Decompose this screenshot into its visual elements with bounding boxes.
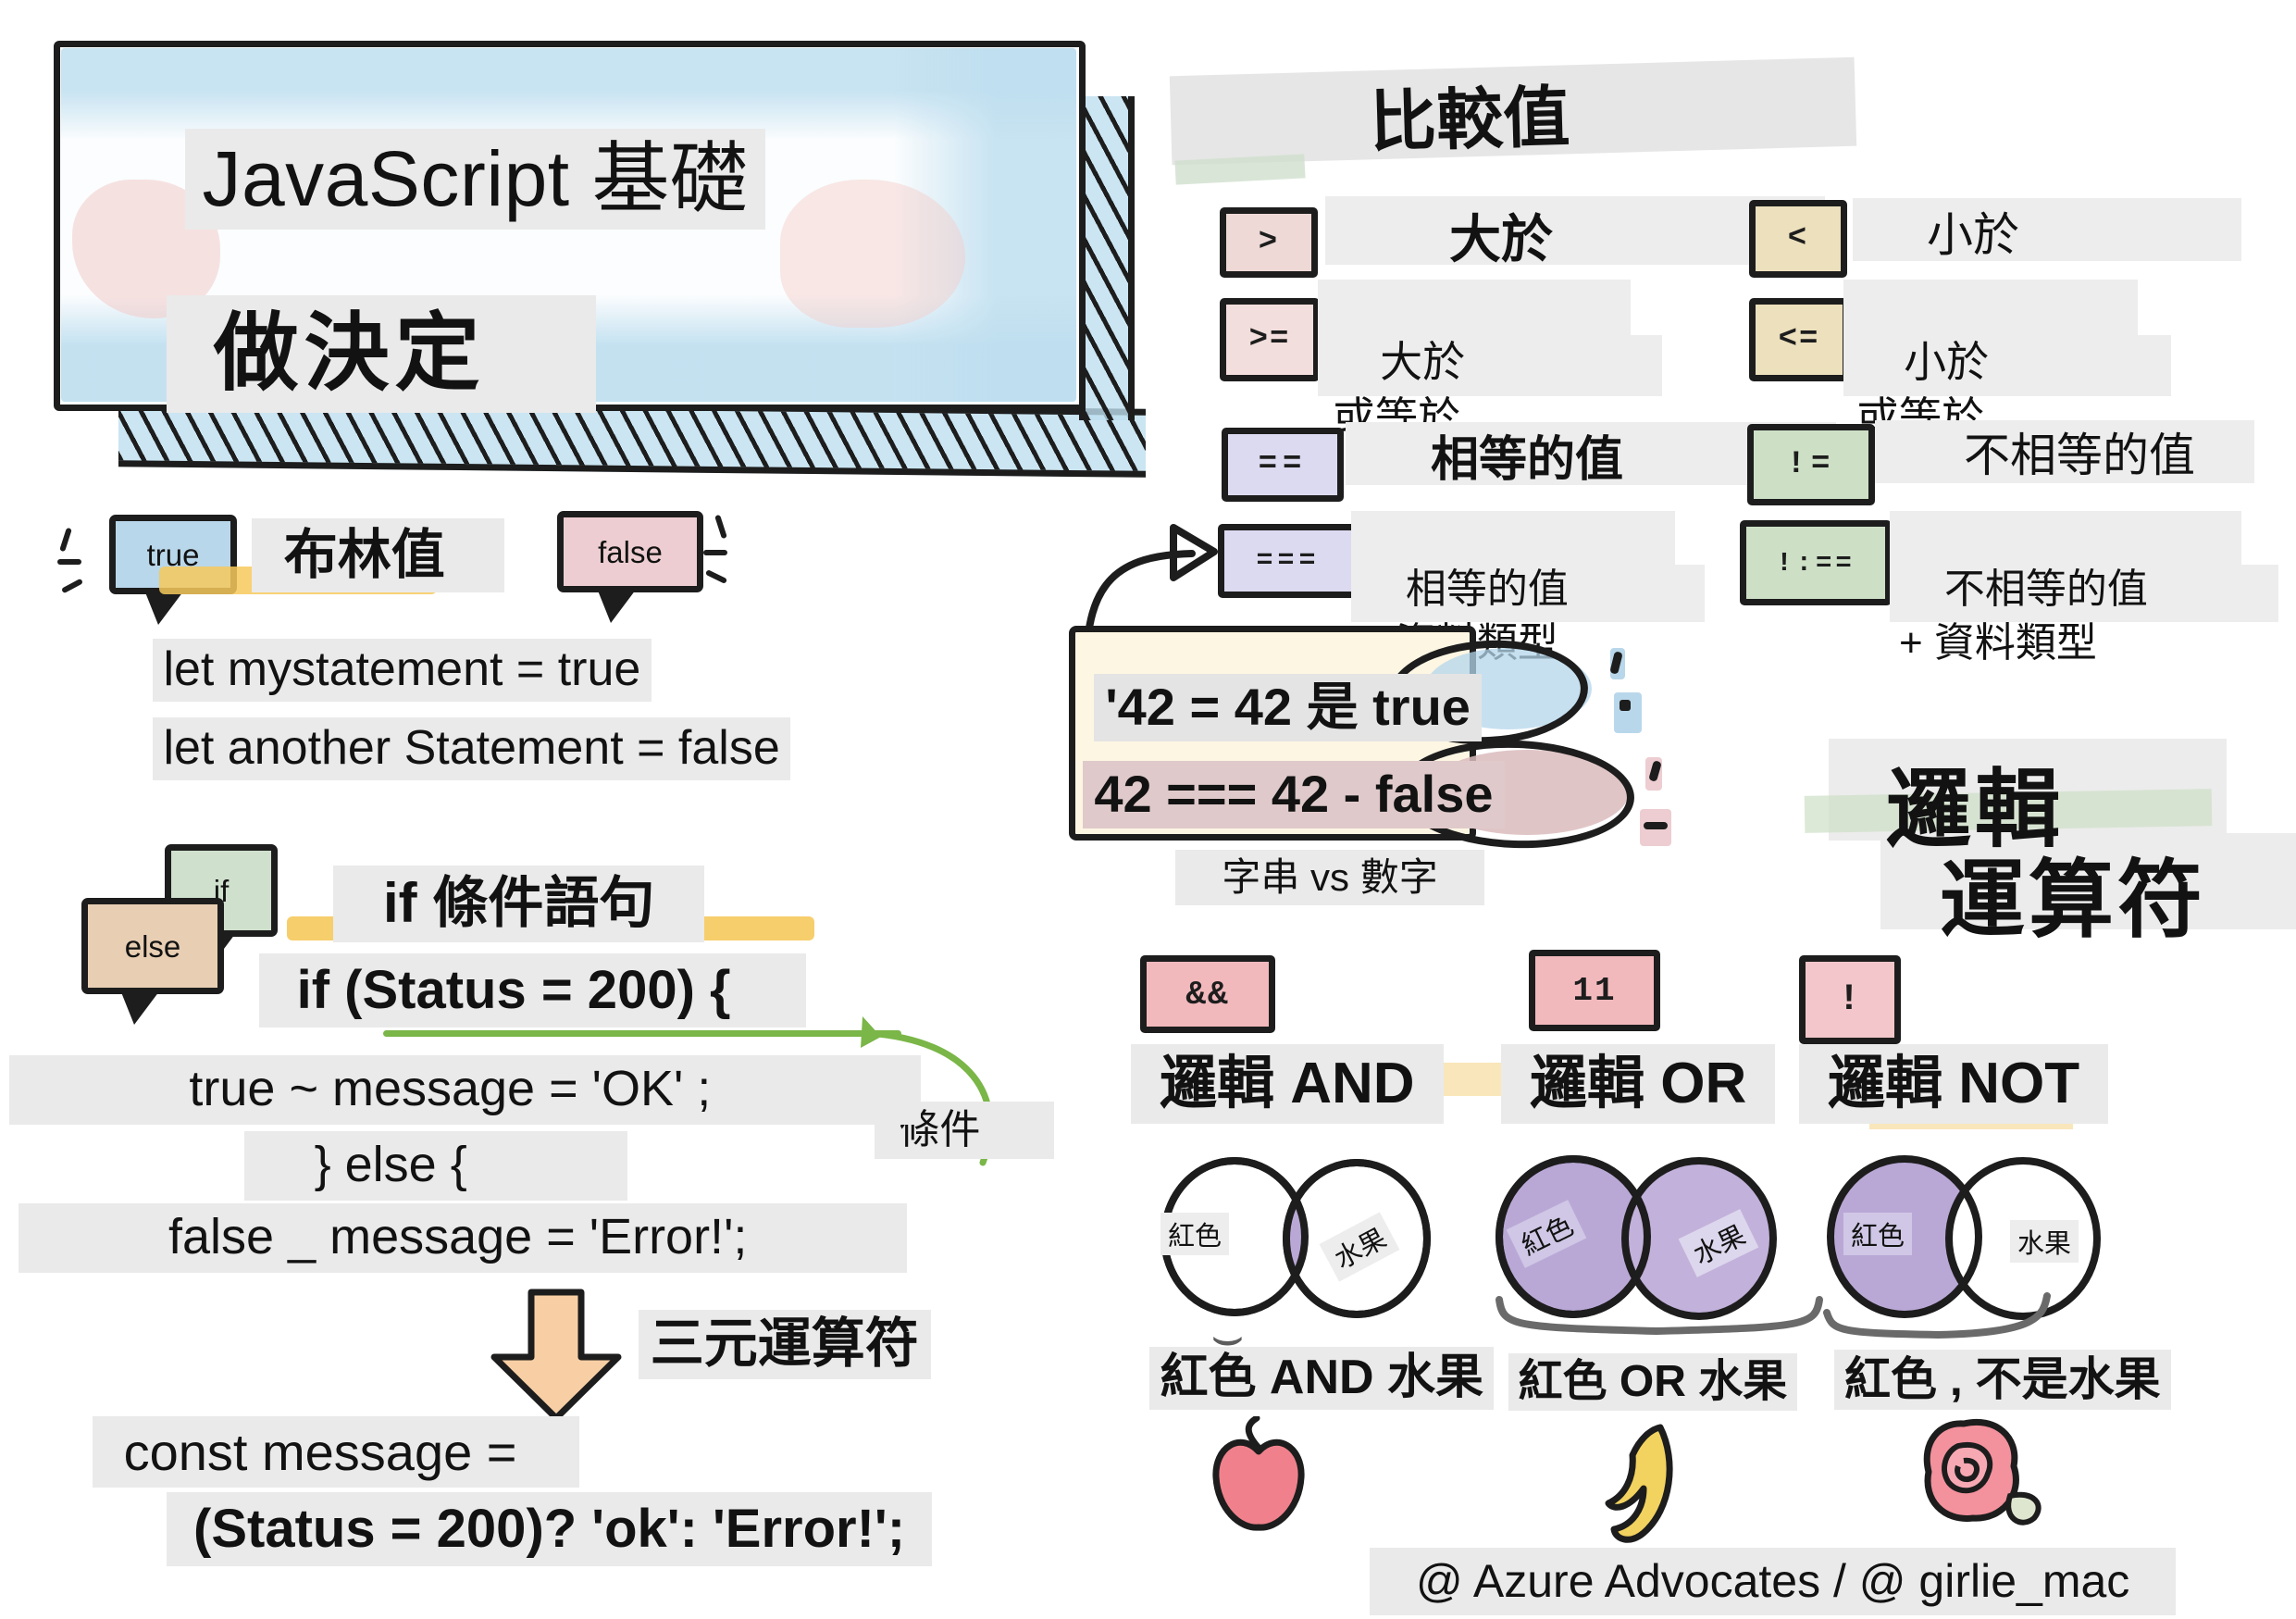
title-card-side-hatch — [1079, 96, 1135, 420]
and-caption-text: 紅色 AND 水果 — [1149, 1347, 1494, 1410]
venn-and: 紅色 水果 — [1155, 1155, 1488, 1322]
fortytwo-true-text: '42 = 42 是 true — [1094, 674, 1482, 741]
fortytwo-caption-text: 字串 vs 數字 — [1175, 850, 1484, 905]
fortytwo-true-line: '42 = 42 是 true — [1094, 674, 1482, 741]
bubble-else-label: else — [125, 931, 181, 962]
not-title: 邏輯 NOT — [1799, 1044, 2108, 1124]
page-subtitle-text: 做決定 — [167, 295, 596, 413]
compare-label-neq: 不相等的值 — [1964, 418, 2195, 485]
compare-label-gt-text: 大於 — [1449, 210, 1553, 268]
logic-heading-line-2-text: 運算符 — [1940, 853, 2206, 948]
and-caption: 紅色 AND 水果 — [1149, 1347, 1494, 1410]
fortytwo-caption: 字串 vs 數字 — [1175, 850, 1484, 905]
if-code-text-2: true ~ message = 'OK' ; — [9, 1055, 921, 1125]
if-code-line-3: } else { — [244, 1131, 627, 1201]
and-title-text: 邏輯 AND — [1131, 1044, 1444, 1124]
operator-chip-and-label: && — [1185, 976, 1229, 1014]
fortytwo-false-line: 42 === 42 - false — [1083, 761, 1505, 828]
rose-icon — [1906, 1414, 2054, 1535]
operator-chip-gt: > — [1220, 207, 1318, 278]
compare-label-neq-text: 不相等的值 — [1964, 430, 2195, 481]
operator-chip-eq: == — [1222, 428, 1344, 502]
banana-icon — [1592, 1424, 1703, 1544]
sparkle-right-icon — [701, 515, 753, 598]
or-title: 邏輯 OR — [1501, 1044, 1775, 1124]
compare-label-lt-text: 小於 — [1927, 209, 2019, 261]
boolean-code-text-1: let mystatement = true — [153, 639, 652, 702]
venn-not-label-left: 紅色 — [1843, 1213, 1912, 1255]
operator-chip-not: ! — [1799, 955, 1901, 1044]
compare-label-strict-neq: 不相等的值 + 資料類型 — [1899, 509, 2148, 724]
ternary-code-text-2: (Status = 200)? 'ok': 'Error!'; — [167, 1492, 932, 1566]
operator-chip-not-label: ! — [1838, 979, 1862, 1021]
footer-credit-text: @ Azure Advocates / @ girlie_mac — [1370, 1548, 2176, 1615]
compare-label-strict-neq-text: 不相等的值 + 資料類型 — [1899, 567, 2148, 666]
chip-blot — [1213, 205, 1322, 284]
chip-blot — [1741, 421, 1880, 512]
infographic-canvas: JavaScript 基礎 做決定 true 布林值 false let mys… — [0, 0, 2296, 1619]
sparkle-pink-icon — [1631, 757, 1695, 859]
boolean-code-text-2: let another Statement = false — [153, 717, 790, 780]
bubble-else: else — [81, 898, 224, 994]
boolean-heading: 布林值 — [252, 518, 504, 592]
chip-blot — [1743, 295, 1854, 388]
if-code-line-1: if (Status = 200) { — [259, 953, 806, 1027]
or-caption-text: 紅色 OR 水果 — [1508, 1353, 1797, 1411]
bubble-false-label: false — [598, 537, 663, 567]
chip-blot — [1743, 197, 1852, 284]
not-title-text: 邏輯 NOT — [1799, 1044, 2108, 1124]
operator-chip-or: 11 — [1529, 950, 1660, 1031]
compare-label-eq: 相等的值 — [1431, 420, 1623, 490]
bubble-true-label: true — [147, 540, 200, 570]
down-arrow-icon — [481, 1287, 639, 1426]
compare-heading-text: 比較值 — [1369, 81, 1570, 160]
or-caption: 紅色 OR 水果 — [1508, 1353, 1797, 1411]
or-brace-icon — [1494, 1294, 1827, 1344]
not-caption: 紅色 , 不是水果 — [1834, 1350, 2171, 1410]
venn-and-label-left: 紅色 — [1160, 1213, 1229, 1255]
boolean-code-line-2: let another Statement = false — [153, 717, 790, 780]
compare-label-gt: 大於 — [1449, 198, 1553, 273]
or-title-text: 邏輯 OR — [1501, 1044, 1775, 1124]
sparkle-blue-icon — [1592, 648, 1657, 750]
operator-chip-neq: != — [1747, 424, 1875, 505]
if-code-text-3: } else { — [244, 1131, 627, 1201]
if-heading-text: if 條件語句 — [333, 866, 704, 942]
operator-chip-or-label: 11 — [1572, 972, 1616, 1010]
if-code-text-4: false _ message = 'Error!'; — [19, 1203, 907, 1273]
page-title-text: JavaScript 基礎 — [185, 129, 765, 230]
chip-blot — [1213, 295, 1324, 388]
footer-credit: @ Azure Advocates / @ girlie_mac — [1370, 1548, 2176, 1615]
operator-chip-strict-neq: !:== — [1740, 520, 1892, 605]
if-code-line-2: true ~ message = 'OK' ; — [9, 1055, 921, 1125]
logic-heading-line-2: 運算符 — [1940, 831, 2206, 954]
operator-chip-lt: < — [1749, 200, 1847, 278]
fortytwo-false-text: 42 === 42 - false — [1083, 761, 1505, 828]
page-title: JavaScript 基礎 — [185, 129, 765, 230]
and-title: 邏輯 AND — [1131, 1044, 1444, 1124]
condition-underline — [383, 1030, 901, 1037]
operator-chip-lte: <= — [1749, 298, 1849, 381]
if-code-line-4: false _ message = 'Error!'; — [19, 1203, 907, 1273]
boolean-heading-text: 布林值 — [252, 518, 504, 592]
if-code-text-1: if (Status = 200) { — [259, 953, 806, 1027]
sparkle-left-icon — [57, 526, 109, 605]
boolean-code-line-1: let mystatement = true — [153, 639, 652, 702]
compare-heading: 比較值 — [1369, 62, 1571, 165]
venn-not-label-right: 水果 — [2010, 1220, 2079, 1263]
operator-chip-and: && — [1140, 955, 1275, 1033]
ternary-code-text-1: const message = — [93, 1416, 579, 1488]
operator-chip-gte: >= — [1220, 298, 1320, 381]
if-heading: if 條件語句 — [333, 866, 704, 942]
compare-label-lt: 小於 — [1927, 198, 2019, 265]
ternary-code-line-1: const message = — [93, 1416, 579, 1488]
page-subtitle: 做決定 — [167, 295, 596, 413]
ternary-label-text: 三元運算符 — [639, 1310, 931, 1379]
apple-icon — [1203, 1416, 1314, 1537]
chip-blot — [1733, 517, 1896, 612]
compare-label-plate-lt — [1853, 198, 2241, 261]
not-caption-text: 紅色 , 不是水果 — [1834, 1350, 2171, 1410]
title-card: JavaScript 基礎 做決定 — [54, 41, 1086, 411]
ternary-label: 三元運算符 — [639, 1310, 931, 1379]
not-brace-icon — [1821, 1292, 2062, 1342]
compare-label-eq-text: 相等的值 — [1431, 433, 1623, 487]
bubble-false: false — [557, 511, 703, 592]
ternary-code-line-2: (Status = 200)? 'ok': 'Error!'; — [167, 1492, 932, 1566]
